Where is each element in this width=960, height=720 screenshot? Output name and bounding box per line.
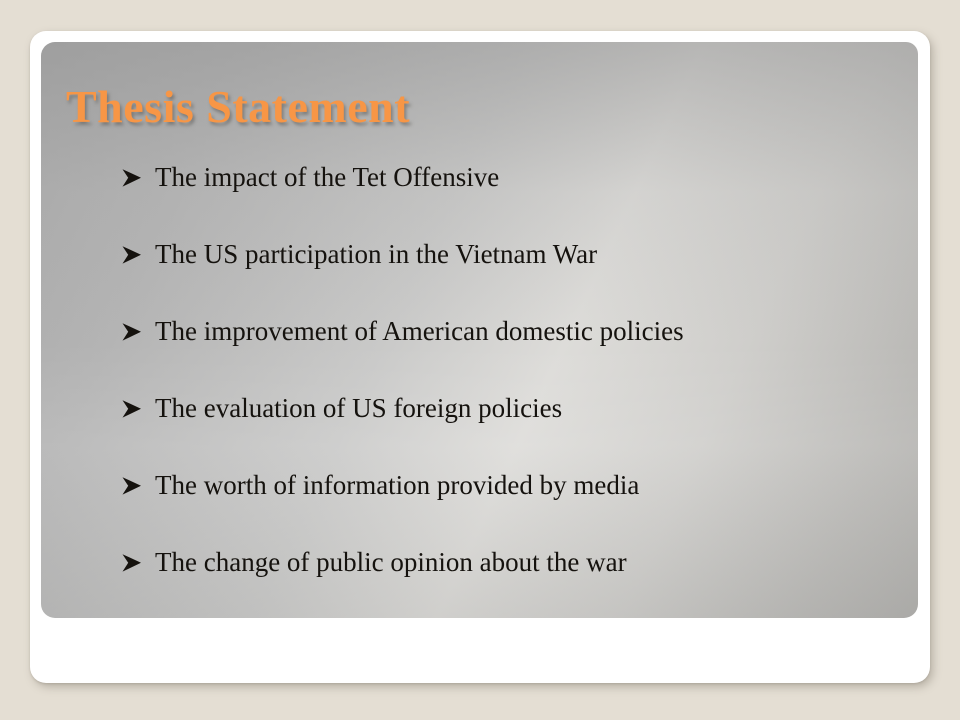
arrowhead-bullet-icon [121,391,149,425]
bullet-list-item: The US participation in the Vietnam War [121,237,891,314]
arrowhead-bullet-icon [121,160,149,194]
slide-card: Thesis Statement The impact of the Tet O… [30,31,930,683]
arrowhead-bullet-icon [121,237,149,271]
bullet-text: The change of public opinion about the w… [155,545,627,579]
bullet-text: The worth of information provided by med… [155,468,639,502]
slide-content-panel: Thesis Statement The impact of the Tet O… [41,42,918,618]
bullet-list-item: The improvement of American domestic pol… [121,314,891,391]
slide-title: Thesis Statement [66,80,410,133]
thesis-bullet-list: The impact of the Tet Offensive The US p… [121,160,891,618]
arrowhead-bullet-icon [121,314,149,348]
arrowhead-bullet-icon [121,545,149,579]
bullet-text: The US participation in the Vietnam War [155,237,597,271]
bullet-list-item: The change of public opinion about the w… [121,545,891,618]
bullet-text: The impact of the Tet Offensive [155,160,499,194]
bullet-text: The improvement of American domestic pol… [155,314,684,348]
bullet-list-item: The worth of information provided by med… [121,468,891,545]
bullet-text: The evaluation of US foreign policies [155,391,562,425]
arrowhead-bullet-icon [121,468,149,502]
bullet-list-item: The evaluation of US foreign policies [121,391,891,468]
bullet-list-item: The impact of the Tet Offensive [121,160,891,237]
slide-stage: Thesis Statement The impact of the Tet O… [0,0,960,720]
